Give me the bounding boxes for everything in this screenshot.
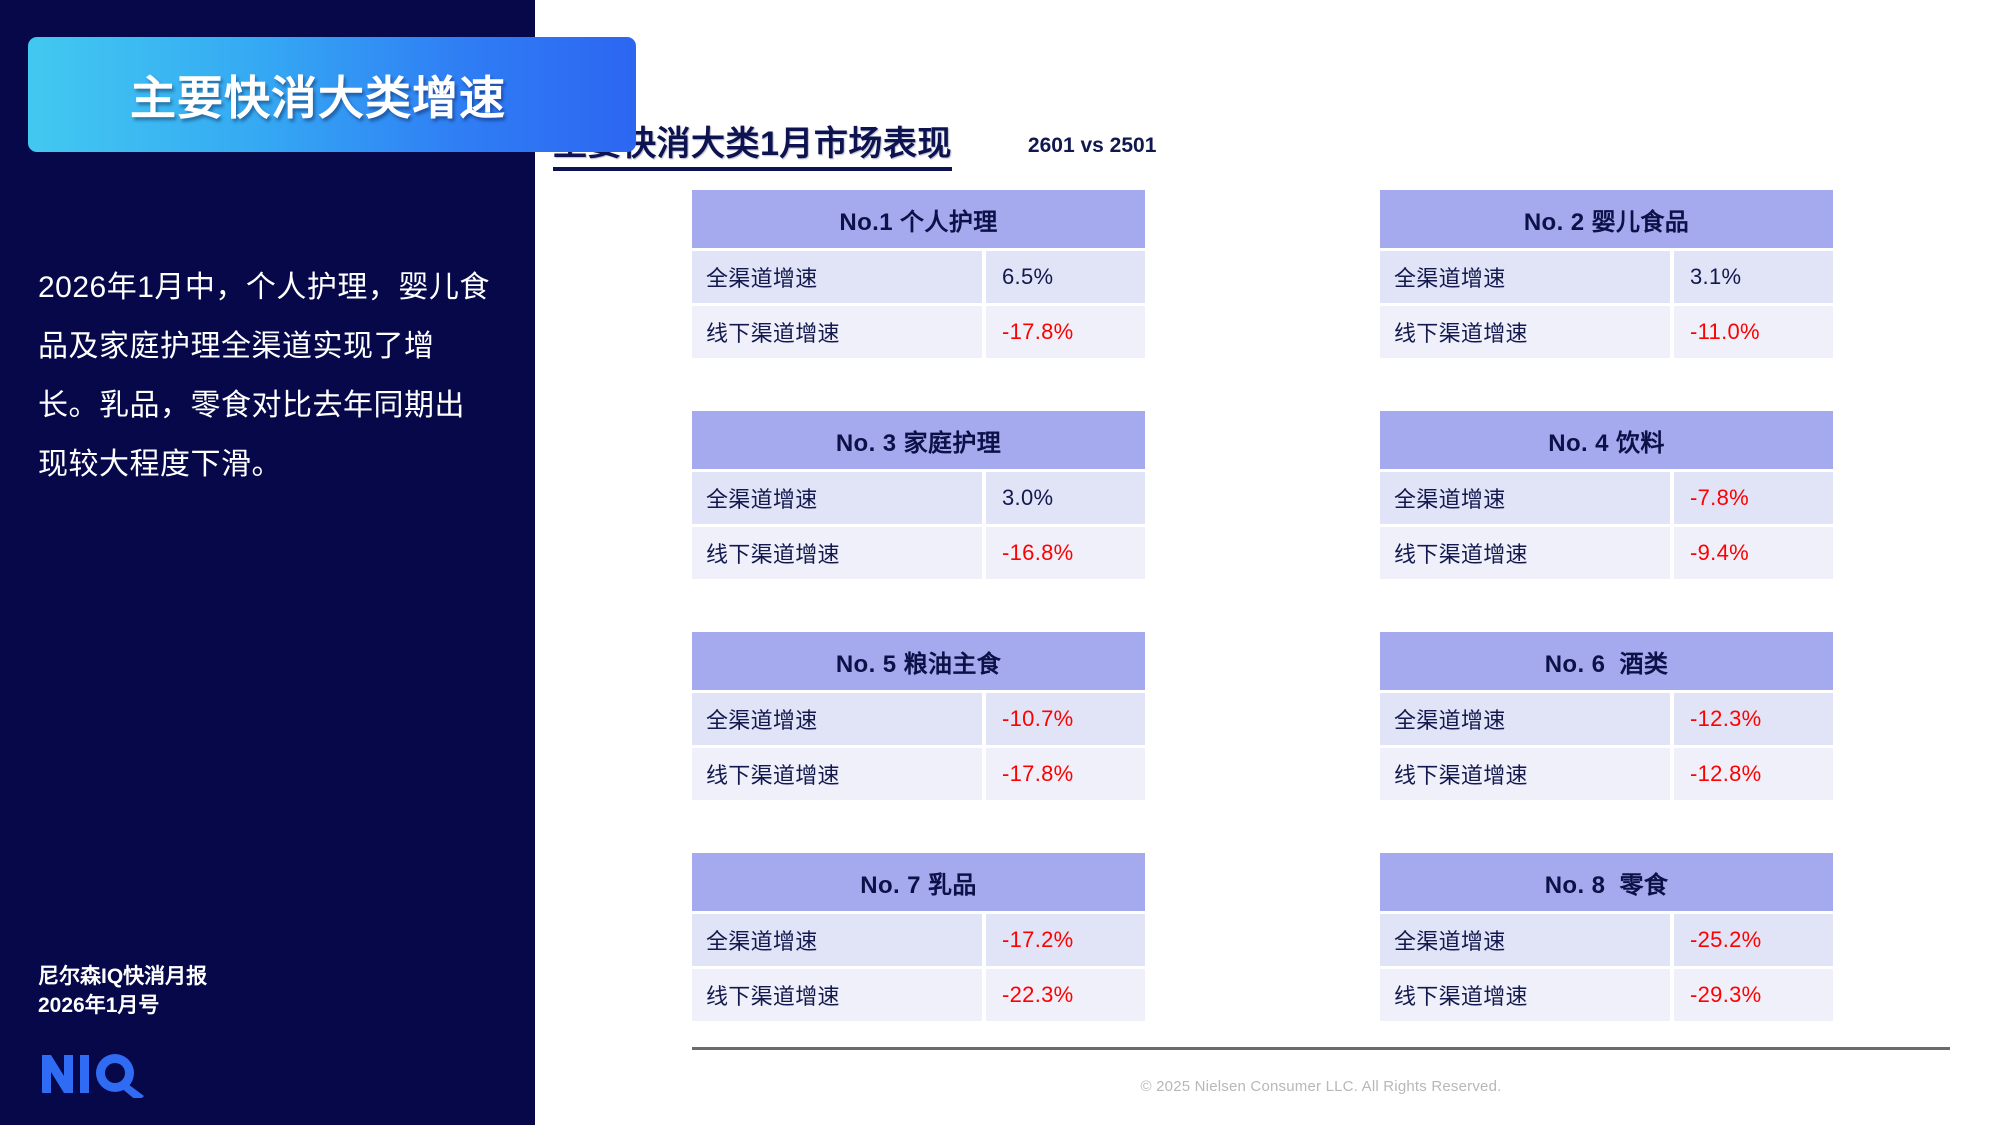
omni-channel-value: -25.2% <box>1674 914 1833 966</box>
copyright-text: © 2025 Nielsen Consumer LLC. All Rights … <box>692 1078 1950 1095</box>
omni-channel-value: -7.8% <box>1674 472 1833 524</box>
category-card: No. 8 零食全渠道增速-25.2%线下渠道增速-29.3% <box>1380 853 1833 1021</box>
omni-channel-label: 全渠道增速 <box>692 693 982 745</box>
offline-channel-value: -22.3% <box>986 969 1145 1021</box>
category-card: No. 7 乳品全渠道增速-17.2%线下渠道增速-22.3% <box>692 853 1145 1021</box>
category-card-title: No. 3 家庭护理 <box>692 411 1145 469</box>
omni-channel-label: 全渠道增速 <box>1380 472 1670 524</box>
offline-channel-label: 线下渠道增速 <box>1380 969 1670 1021</box>
omni-channel-row: 全渠道增速-17.2% <box>692 914 1145 966</box>
offline-channel-row: 线下渠道增速-29.3% <box>1380 969 1833 1021</box>
offline-channel-label: 线下渠道增速 <box>692 748 982 800</box>
offline-channel-row: 线下渠道增速-11.0% <box>1380 306 1833 358</box>
omni-channel-value: -12.3% <box>1674 693 1833 745</box>
offline-channel-value: -9.4% <box>1674 527 1833 579</box>
footer-divider <box>692 1047 1950 1050</box>
offline-channel-label: 线下渠道增速 <box>692 969 982 1021</box>
category-card-title: No. 4 饮料 <box>1380 411 1833 469</box>
category-card-title: No.1 个人护理 <box>692 190 1145 248</box>
category-card: No. 3 家庭护理全渠道增速3.0%线下渠道增速-16.8% <box>692 411 1145 579</box>
omni-channel-label: 全渠道增速 <box>1380 251 1670 303</box>
omni-channel-row: 全渠道增速-12.3% <box>1380 693 1833 745</box>
category-card: No. 4 饮料全渠道增速-7.8%线下渠道增速-9.4% <box>1380 411 1833 579</box>
offline-channel-value: -17.8% <box>986 748 1145 800</box>
offline-channel-label: 线下渠道增速 <box>1380 306 1670 358</box>
slide-root: 主要快消大类增速 2026年1月中，个人护理，婴儿食品及家庭护理全渠道实现了增长… <box>0 0 2000 1125</box>
offline-channel-row: 线下渠道增速-9.4% <box>1380 527 1833 579</box>
omni-channel-row: 全渠道增速-10.7% <box>692 693 1145 745</box>
offline-channel-value: -12.8% <box>1674 748 1833 800</box>
category-card: No. 6 酒类全渠道增速-12.3%线下渠道增速-12.8% <box>1380 632 1833 800</box>
omni-channel-value: -17.2% <box>986 914 1145 966</box>
omni-channel-row: 全渠道增速-7.8% <box>1380 472 1833 524</box>
offline-channel-value: -29.3% <box>1674 969 1833 1021</box>
omni-channel-label: 全渠道增速 <box>1380 693 1670 745</box>
omni-channel-row: 全渠道增速3.0% <box>692 472 1145 524</box>
category-card-title: No. 7 乳品 <box>692 853 1145 911</box>
offline-channel-value: -11.0% <box>1674 306 1833 358</box>
offline-channel-value: -16.8% <box>986 527 1145 579</box>
offline-channel-row: 线下渠道增速-17.8% <box>692 748 1145 800</box>
offline-channel-label: 线下渠道增速 <box>692 527 982 579</box>
offline-channel-row: 线下渠道增速-16.8% <box>692 527 1145 579</box>
offline-channel-row: 线下渠道增速-12.8% <box>1380 748 1833 800</box>
offline-channel-label: 线下渠道增速 <box>1380 748 1670 800</box>
category-card-grid: No.1 个人护理全渠道增速6.5%线下渠道增速-17.8%No. 2 婴儿食品… <box>0 0 1465 1125</box>
omni-channel-row: 全渠道增速6.5% <box>692 251 1145 303</box>
category-card-title: No. 5 粮油主食 <box>692 632 1145 690</box>
offline-channel-row: 线下渠道增速-22.3% <box>692 969 1145 1021</box>
omni-channel-value: 6.5% <box>986 251 1145 303</box>
category-card: No. 5 粮油主食全渠道增速-10.7%线下渠道增速-17.8% <box>692 632 1145 800</box>
slide-title-banner: 主要快消大类增速 <box>28 37 636 152</box>
category-card-title: No. 6 酒类 <box>1380 632 1833 690</box>
omni-channel-label: 全渠道增速 <box>1380 914 1670 966</box>
omni-channel-label: 全渠道增速 <box>692 914 982 966</box>
category-card-title: No. 8 零食 <box>1380 853 1833 911</box>
category-card: No.1 个人护理全渠道增速6.5%线下渠道增速-17.8% <box>692 190 1145 358</box>
omni-channel-label: 全渠道增速 <box>692 472 982 524</box>
omni-channel-label: 全渠道增速 <box>692 251 982 303</box>
offline-channel-label: 线下渠道增速 <box>1380 527 1670 579</box>
omni-channel-value: -10.7% <box>986 693 1145 745</box>
omni-channel-row: 全渠道增速-25.2% <box>1380 914 1833 966</box>
omni-channel-row: 全渠道增速3.1% <box>1380 251 1833 303</box>
offline-channel-label: 线下渠道增速 <box>692 306 982 358</box>
slide-title-text: 主要快消大类增速 <box>130 62 506 128</box>
omni-channel-value: 3.1% <box>1674 251 1833 303</box>
omni-channel-value: 3.0% <box>986 472 1145 524</box>
category-card: No. 2 婴儿食品全渠道增速3.1%线下渠道增速-11.0% <box>1380 190 1833 358</box>
offline-channel-value: -17.8% <box>986 306 1145 358</box>
category-card-title: No. 2 婴儿食品 <box>1380 190 1833 248</box>
offline-channel-row: 线下渠道增速-17.8% <box>692 306 1145 358</box>
